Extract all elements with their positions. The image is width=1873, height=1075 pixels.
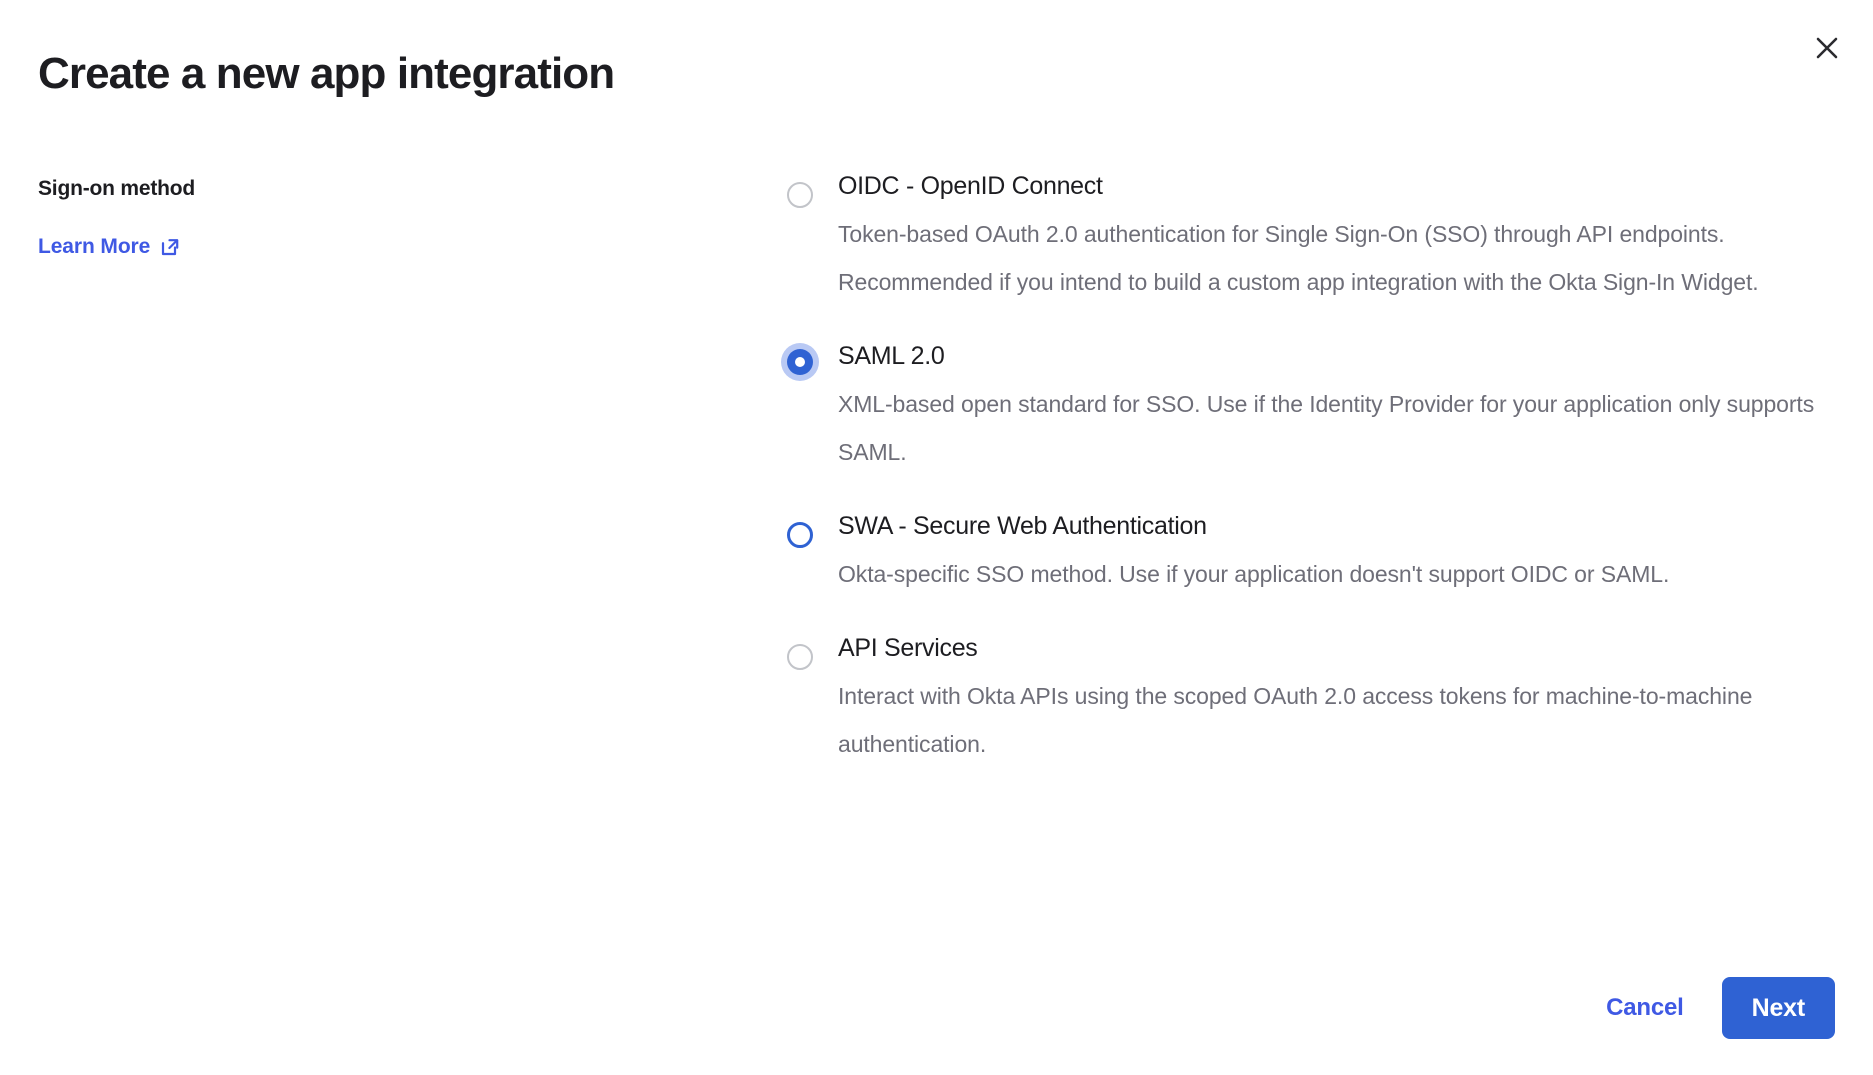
option-title: SAML 2.0	[838, 340, 1838, 372]
create-app-integration-dialog: Create a new app integration Sign-on met…	[0, 0, 1873, 1075]
option-description: Interact with Okta APIs using the scoped…	[838, 672, 1838, 768]
radio-ring	[787, 182, 813, 208]
learn-more-link[interactable]: Learn More	[38, 233, 181, 261]
radio-ring	[787, 644, 813, 670]
external-link-icon	[159, 236, 181, 258]
sign-on-method-options: OIDC - OpenID Connect Token-based OAuth …	[778, 170, 1838, 768]
cancel-button[interactable]: Cancel	[1602, 986, 1688, 1030]
option-description: Token-based OAuth 2.0 authentication for…	[838, 210, 1838, 306]
radio-saml[interactable]	[781, 343, 819, 381]
learn-more-label: Learn More	[38, 233, 150, 261]
radio-ring	[787, 349, 813, 375]
radio-oidc[interactable]	[778, 173, 822, 217]
page-title: Create a new app integration	[38, 48, 614, 100]
option-title: OIDC - OpenID Connect	[838, 170, 1838, 202]
radio-api-services[interactable]	[778, 635, 822, 679]
radio-dot	[795, 357, 805, 367]
sign-on-method-section: Sign-on method Learn More	[38, 175, 598, 261]
close-icon-glyph	[1814, 35, 1840, 61]
next-button[interactable]: Next	[1722, 977, 1835, 1039]
radio-swa[interactable]	[778, 513, 822, 557]
sign-on-method-label: Sign-on method	[38, 175, 598, 203]
option-api-services[interactable]: API Services Interact with Okta APIs usi…	[778, 632, 1838, 768]
option-saml[interactable]: SAML 2.0 XML-based open standard for SSO…	[778, 340, 1838, 476]
option-title: SWA - Secure Web Authentication	[838, 510, 1838, 542]
dialog-footer: Cancel Next	[1602, 977, 1835, 1039]
radio-ring	[787, 522, 813, 548]
option-oidc[interactable]: OIDC - OpenID Connect Token-based OAuth …	[778, 170, 1838, 306]
close-icon[interactable]	[1801, 22, 1853, 74]
option-description: Okta-specific SSO method. Use if your ap…	[838, 550, 1838, 598]
option-description: XML-based open standard for SSO. Use if …	[838, 380, 1838, 476]
option-title: API Services	[838, 632, 1838, 664]
option-swa[interactable]: SWA - Secure Web Authentication Okta-spe…	[778, 510, 1838, 598]
